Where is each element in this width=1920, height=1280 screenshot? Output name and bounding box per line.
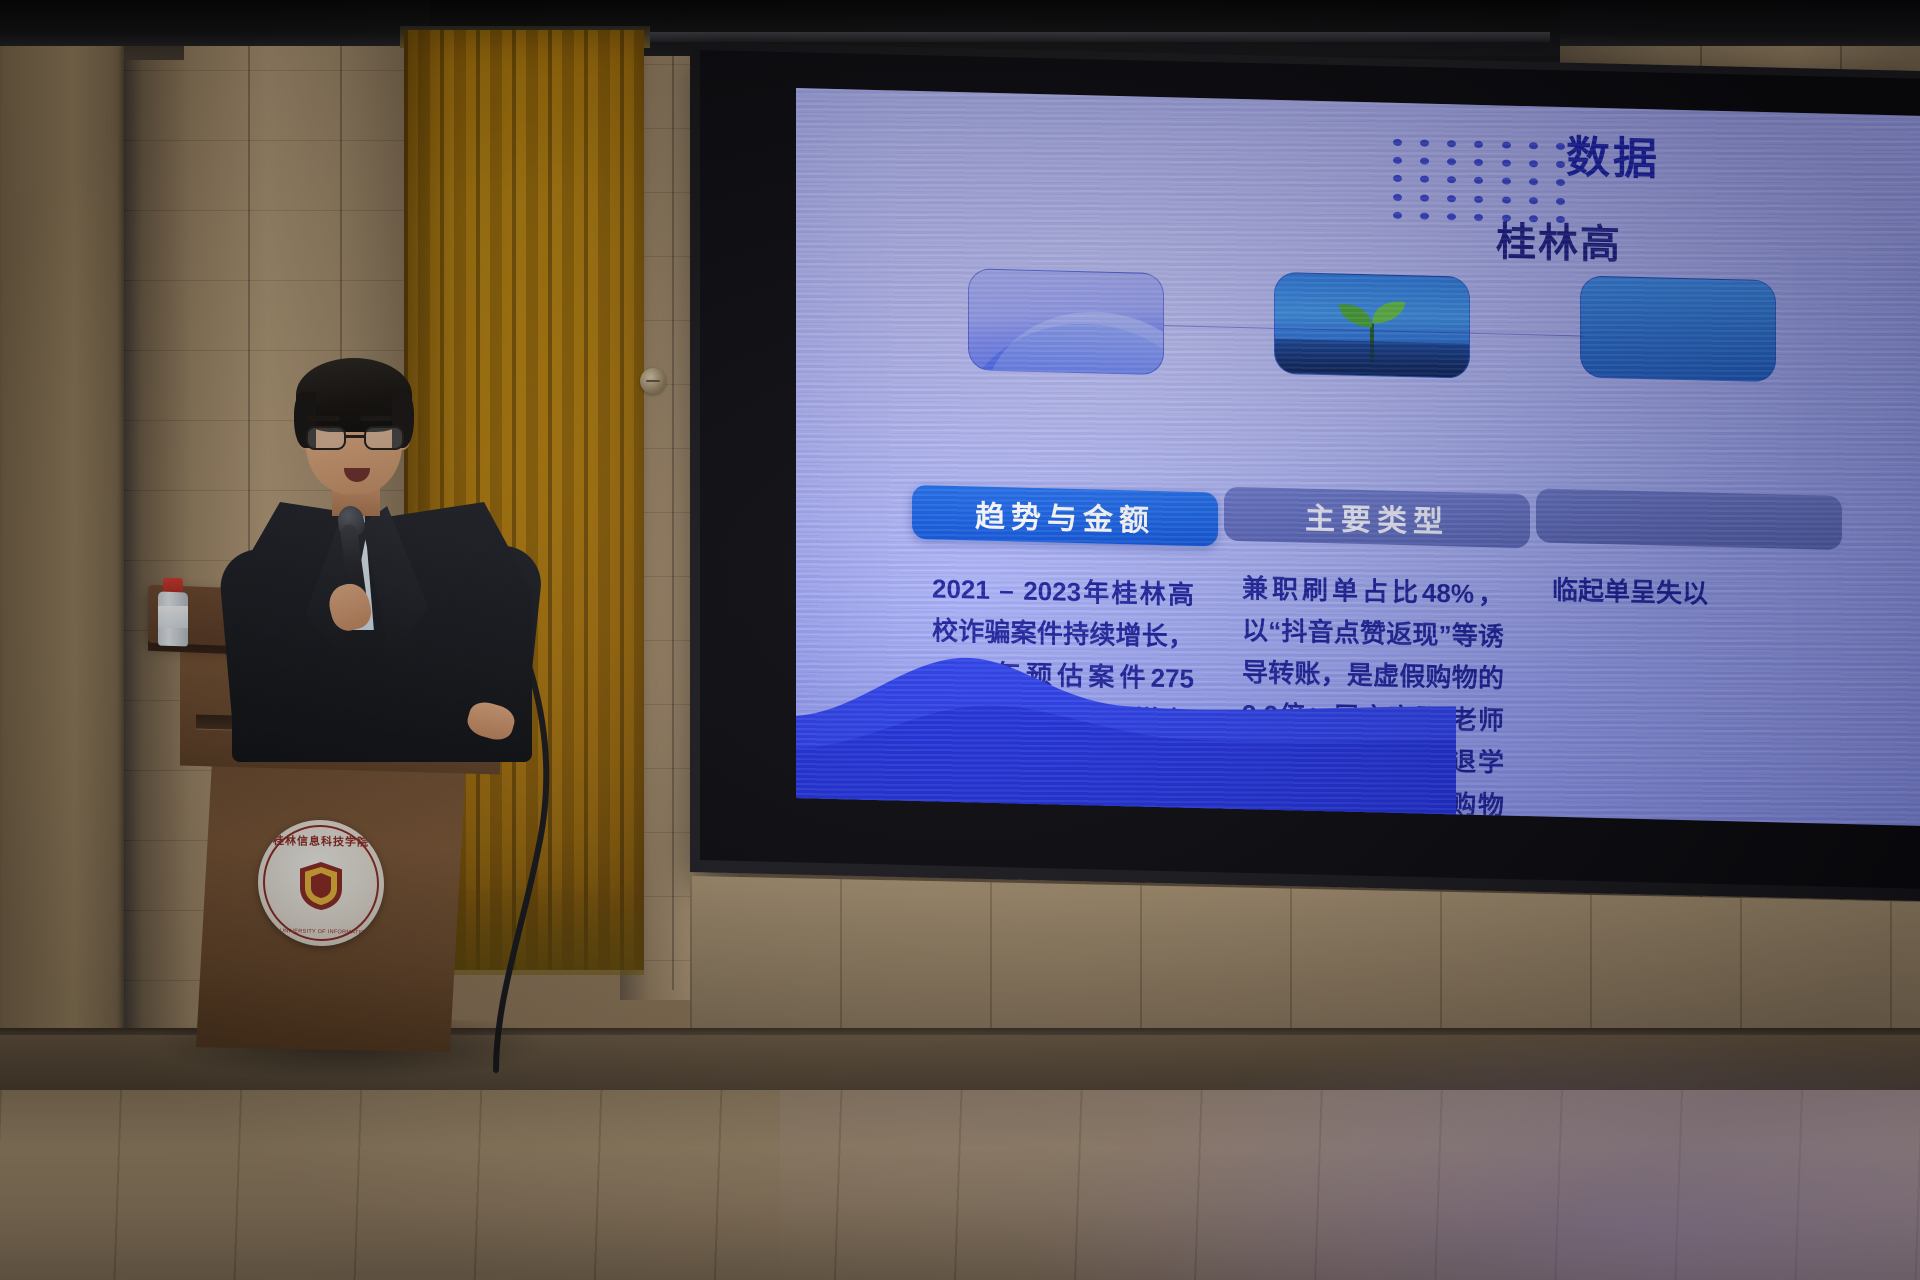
sprout-ground (1275, 339, 1469, 378)
emblem-top-text: 桂林信息科技学院 (258, 832, 384, 850)
glasses-bridge (346, 435, 364, 438)
speaker-eyebrow-right (360, 416, 392, 421)
projection-screen: 数据 桂林高 趋势与金额 主要类型 2021 – 2023年桂林高校诈骗案件持续… (796, 88, 1920, 826)
presentation-photo-scene: 数据 桂林高 趋势与金额 主要类型 2021 – 2023年桂林高校诈骗案件持续… (0, 0, 1920, 1280)
glasses-lens-right (364, 426, 404, 450)
third-thumbnail (1580, 275, 1776, 382)
pill-third[interactable] (1536, 488, 1842, 550)
speaker-eyebrow-left (308, 416, 340, 421)
speaker (220, 352, 550, 682)
slide-wave-graphic (796, 598, 1456, 826)
wave-dune-thumbnail (968, 268, 1164, 375)
card-body-third: 临起单呈失以 (1552, 569, 1814, 618)
wooden-wall-panel-left-inner (0, 40, 124, 1140)
shield-icon (297, 860, 345, 913)
university-emblem: 桂林信息科技学院 GUILIN UNIVERSITY OF INFORMATIO… (258, 819, 384, 947)
sprout-seedling-thumbnail (1274, 272, 1470, 379)
floor-light-pool (1000, 1020, 1920, 1280)
pill-trend-and-amount[interactable]: 趋势与金额 (912, 485, 1218, 547)
pill-main-types[interactable]: 主要类型 (1224, 487, 1530, 549)
glasses-lens-left (306, 426, 346, 450)
glasses-icon (304, 426, 406, 450)
bottle-label (158, 606, 188, 628)
wall-vent-icon (640, 368, 666, 394)
